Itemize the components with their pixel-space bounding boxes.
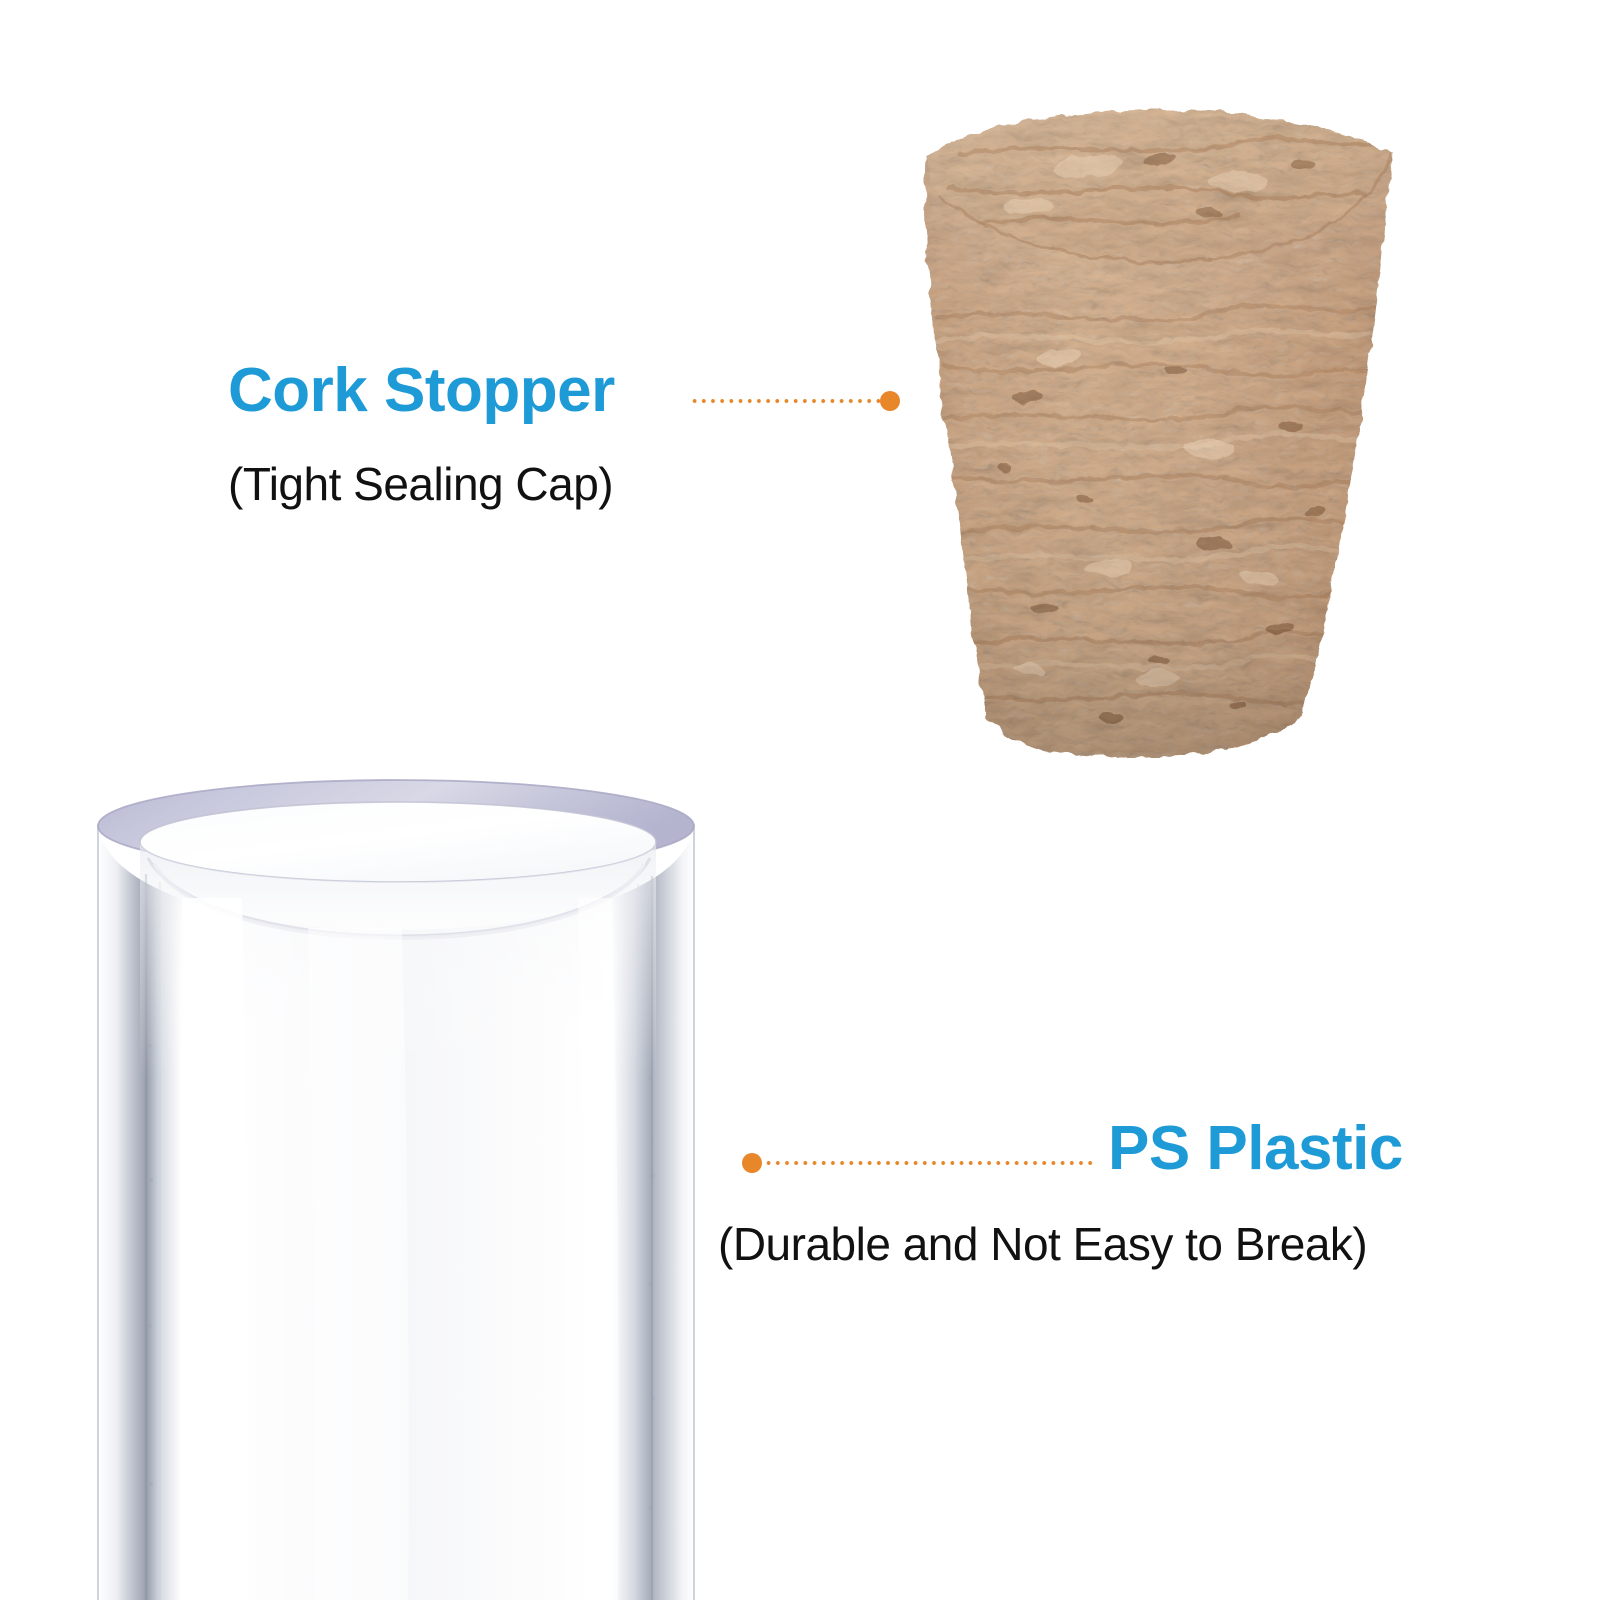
ps-leader-endpoint-dot: [742, 1153, 762, 1173]
cork-body-group: [908, 108, 1478, 758]
plastic-tube-image: [78, 778, 714, 1600]
plastic-tube-illustration: [78, 778, 714, 1600]
ps-plastic-subtitle: (Durable and Not Easy to Break): [718, 1218, 1367, 1270]
cork-stopper-illustration: [908, 108, 1478, 758]
cork-stopper-image: [908, 108, 1478, 758]
ps-leader-line: [742, 1160, 1094, 1166]
product-infographic: Cork Stopper (Tight Sealing Cap) PS Plas…: [0, 0, 1600, 1600]
cork-stopper-title: Cork Stopper: [228, 360, 615, 422]
cork-leader-line: [690, 398, 902, 404]
cork-leader-dots: [690, 398, 880, 404]
cork-leader-endpoint-dot: [880, 391, 900, 411]
ps-plastic-title: PS Plastic: [1108, 1118, 1403, 1180]
cork-stopper-subtitle: (Tight Sealing Cap): [228, 458, 613, 510]
ps-leader-dots: [764, 1160, 1094, 1166]
